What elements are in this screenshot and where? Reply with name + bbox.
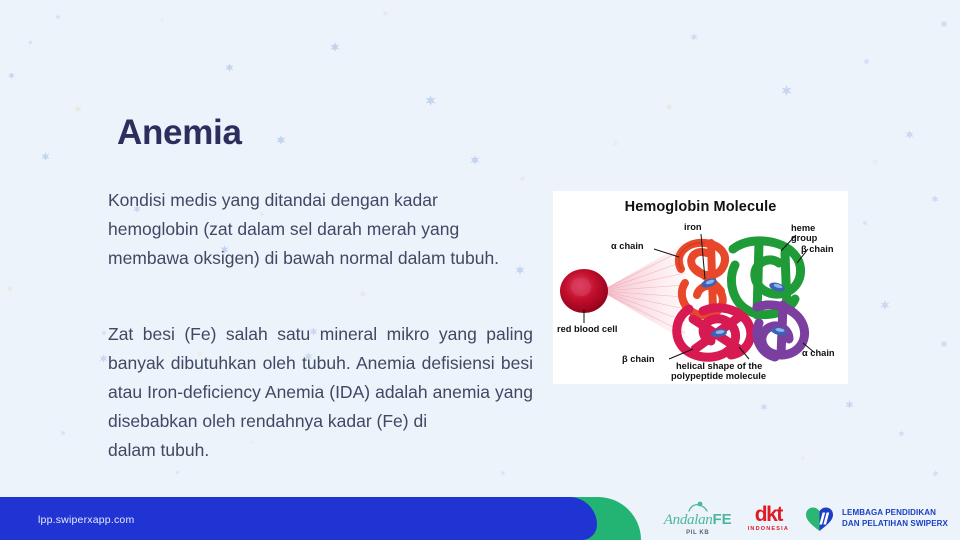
star-icon bbox=[862, 220, 868, 226]
star-icon bbox=[276, 135, 286, 145]
star-icon bbox=[8, 72, 15, 79]
star-icon bbox=[470, 155, 480, 165]
lpp-line-1: LEMBAGA PENDIDIKAN bbox=[842, 508, 948, 519]
figure-label-alpha-chain-left: α chain bbox=[611, 241, 644, 252]
andalan-subtitle: PIL KB bbox=[686, 530, 709, 536]
lpp-wordmark: LEMBAGA PENDIDIKAN DAN PELATIHAN SWIPERX bbox=[842, 508, 948, 529]
star-icon bbox=[800, 455, 806, 461]
paragraph-iron-deficiency-main: Zat besi (Fe) salah satu mineral mikro y… bbox=[108, 324, 533, 431]
swiperx-heart-icon bbox=[805, 506, 836, 532]
figure-label-iron: iron bbox=[684, 222, 702, 233]
star-icon bbox=[330, 42, 340, 52]
star-icon bbox=[845, 400, 854, 409]
star-icon bbox=[28, 40, 33, 45]
andalan-wordmark: AndalanFE bbox=[664, 512, 732, 528]
figure-label-alpha-chain-bottom: α chain bbox=[802, 348, 835, 359]
figure-label-beta-chain-right: β chain bbox=[801, 244, 834, 255]
slide-canvas: Anemia Kondisi medis yang ditandai denga… bbox=[0, 0, 960, 540]
star-icon bbox=[880, 300, 890, 310]
star-icon bbox=[863, 58, 870, 65]
andalan-person-icon bbox=[687, 501, 709, 512]
star-icon bbox=[74, 105, 82, 113]
star-icon bbox=[781, 85, 792, 96]
footer-url[interactable]: lpp.swiperxapp.com bbox=[38, 514, 134, 526]
star-icon bbox=[519, 175, 526, 182]
figure-label-beta-chain-bottom: β chain bbox=[622, 354, 655, 365]
star-icon bbox=[60, 430, 66, 436]
star-icon bbox=[425, 95, 436, 106]
star-icon bbox=[160, 18, 165, 23]
star-icon bbox=[6, 285, 14, 293]
footer-bar: lpp.swiperxapp.com AndalanFE PIL KB dkt … bbox=[0, 497, 960, 540]
star-icon bbox=[500, 470, 506, 476]
logo-lpp-swiperx: LEMBAGA PENDIDIKAN DAN PELATIHAN SWIPERX bbox=[805, 506, 948, 532]
figure-label-heme-group-line2: group bbox=[791, 233, 817, 244]
star-icon bbox=[99, 354, 108, 363]
paragraph-iron-deficiency: Zat besi (Fe) salah satu mineral mikro y… bbox=[108, 320, 533, 465]
page-title: Anemia bbox=[117, 114, 242, 153]
lpp-line-2: DAN PELATIHAN SWIPERX bbox=[842, 519, 948, 530]
star-icon bbox=[898, 430, 905, 437]
star-icon bbox=[55, 14, 61, 20]
footer-logos: AndalanFE PIL KB dkt INDONESIA LEMBAGA bbox=[664, 497, 948, 540]
figure-label-red-blood-cell: red blood cell bbox=[557, 324, 617, 335]
hemoglobin-figure: Hemoglobin Molecule bbox=[553, 191, 848, 384]
star-icon bbox=[905, 130, 914, 139]
star-icon bbox=[872, 158, 879, 165]
figure-label-helical-line1: helical shape of the bbox=[676, 361, 762, 372]
star-icon bbox=[931, 195, 939, 203]
star-icon bbox=[225, 63, 234, 72]
star-icon bbox=[382, 10, 389, 17]
star-icon bbox=[940, 20, 948, 28]
star-icon bbox=[612, 140, 619, 147]
figure-label-helical-line2: polypeptide molecule bbox=[671, 371, 766, 382]
figure-label-heme-group-line1: heme bbox=[791, 223, 815, 234]
paragraph-iron-deficiency-last: dalam tubuh. bbox=[108, 436, 533, 465]
star-icon bbox=[175, 470, 180, 475]
star-icon bbox=[101, 330, 107, 336]
star-icon bbox=[690, 33, 698, 41]
star-icon bbox=[940, 340, 948, 348]
star-icon bbox=[41, 152, 50, 161]
star-icon bbox=[359, 290, 367, 298]
dkt-wordmark: dkt bbox=[755, 504, 782, 525]
star-icon bbox=[932, 470, 939, 477]
star-icon bbox=[760, 403, 768, 411]
logo-andalan-fe: AndalanFE PIL KB bbox=[664, 501, 732, 536]
logo-dkt-indonesia: dkt INDONESIA bbox=[748, 504, 789, 533]
dkt-subtitle: INDONESIA bbox=[748, 527, 789, 533]
paragraph-definition: Kondisi medis yang ditandai dengan kadar… bbox=[108, 186, 533, 273]
star-icon bbox=[665, 103, 673, 111]
